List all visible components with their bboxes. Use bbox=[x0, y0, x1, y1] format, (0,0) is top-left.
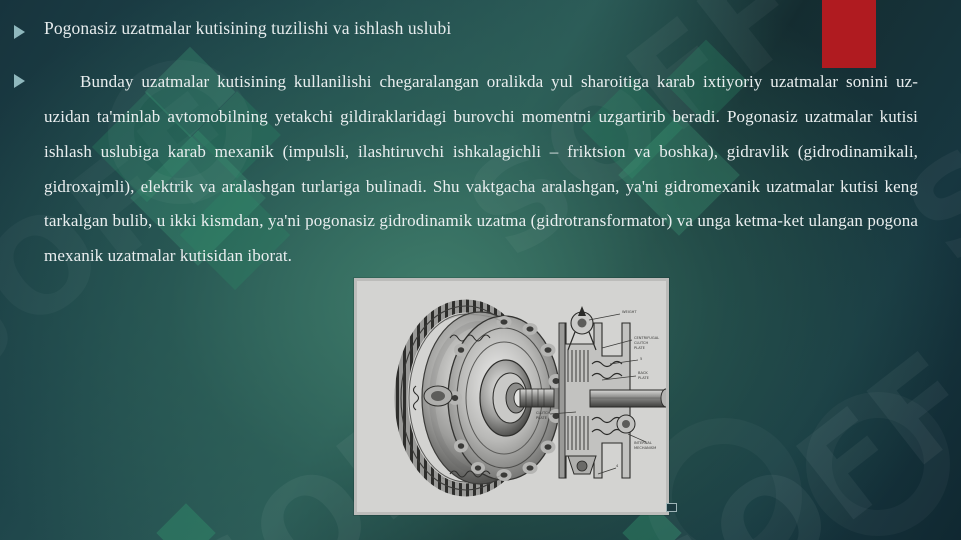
svg-text:INTERNAL: INTERNAL bbox=[634, 441, 652, 445]
accent-diamond bbox=[156, 503, 215, 540]
triangle-bullet-icon bbox=[14, 65, 44, 93]
bullet-item-paragraph[interactable]: Bunday uzatmalar kutisining kullanilishi… bbox=[14, 65, 919, 274]
picture-resize-handle[interactable] bbox=[666, 503, 677, 512]
svg-text:PLATE: PLATE bbox=[634, 346, 646, 350]
svg-text:MECHANISM: MECHANISM bbox=[634, 446, 656, 450]
paragraph-text-content: Bunday uzatmalar kutisining kullanilishi… bbox=[44, 72, 918, 265]
slide-text-body: Pogonasiz uzatmalar kutisining tuzilishi… bbox=[14, 16, 919, 274]
svg-text:5: 5 bbox=[640, 357, 642, 361]
triangle-bullet-icon bbox=[14, 16, 44, 44]
paragraph-text: Bunday uzatmalar kutisining kullanilishi… bbox=[44, 65, 918, 274]
watermark-ring bbox=[646, 418, 802, 540]
svg-text:PLATE: PLATE bbox=[536, 416, 548, 420]
transmission-clutch-diagram[interactable]: WEIGHT CENTRIFUGAL CLUTCH PLATE 5 BACK P… bbox=[354, 278, 669, 515]
svg-text:CLUTCH: CLUTCH bbox=[536, 411, 550, 415]
presentation-slide: SOFF SOFF SOFF SOFF SOFF Pogonasiz uzatm… bbox=[0, 0, 961, 540]
svg-text:BACK: BACK bbox=[638, 371, 648, 375]
svg-text:CENTRIFUGAL: CENTRIFUGAL bbox=[634, 336, 659, 340]
svg-text:CLUTCH: CLUTCH bbox=[634, 341, 648, 345]
bullet-item-heading[interactable]: Pogonasiz uzatmalar kutisining tuzilishi… bbox=[14, 16, 919, 44]
svg-text:PLATE: PLATE bbox=[638, 376, 650, 380]
watermark-ring bbox=[806, 392, 950, 536]
svg-text:WEIGHT: WEIGHT bbox=[622, 310, 637, 314]
heading-text: Pogonasiz uzatmalar kutisining tuzilishi… bbox=[44, 16, 451, 41]
